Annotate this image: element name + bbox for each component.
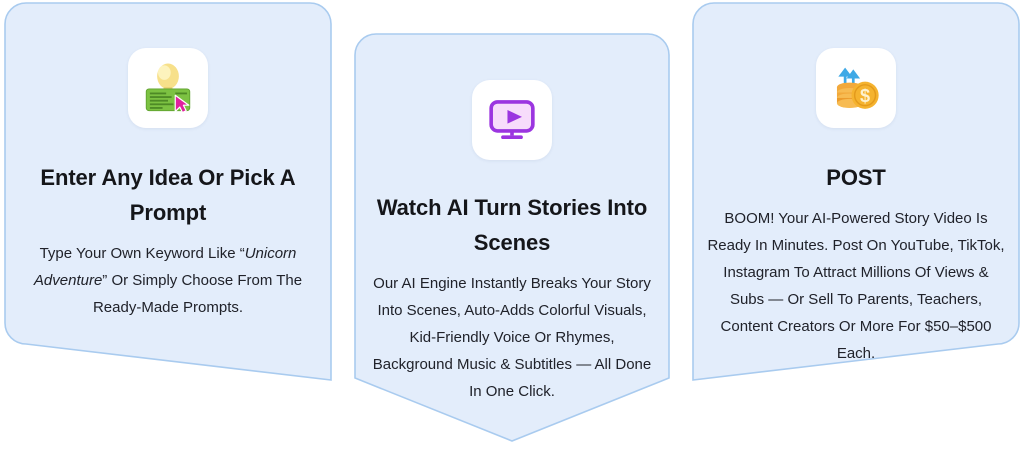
step-2-title: Watch AI Turn Stories Into Scenes — [367, 190, 657, 260]
step-card-3[interactable]: $ POST BOOM! Your AI-Powered Story Video… — [690, 0, 1022, 390]
step-card-2-content: Watch AI Turn Stories Into Scenes Our AI… — [352, 0, 672, 405]
step-1-desc-after: ” Or Simply Choose From The Ready-Made P… — [93, 272, 302, 316]
step-card-2[interactable]: Watch AI Turn Stories Into Scenes Our AI… — [352, 0, 672, 449]
step-3-title: POST — [706, 160, 1006, 195]
step-card-1-content: Enter Any Idea Or Pick A Prompt Type You… — [2, 0, 334, 321]
step-1-icon-tile — [128, 48, 208, 128]
how-it-works-steps-row: Enter Any Idea Or Pick A Prompt Type You… — [0, 0, 1024, 449]
step-2-description: Our AI Engine Instantly Breaks Your Stor… — [370, 270, 654, 405]
lightbulb-idea-list-icon — [139, 59, 197, 117]
step-1-title: Enter Any Idea Or Pick A Prompt — [18, 160, 318, 230]
step-card-1[interactable]: Enter Any Idea Or Pick A Prompt Type You… — [2, 0, 334, 390]
svg-text:$: $ — [860, 86, 870, 106]
step-1-description: Type Your Own Keyword Like “Unicorn Adve… — [22, 240, 314, 321]
step-3-description: BOOM! Your AI-Powered Story Video Is Rea… — [706, 205, 1006, 367]
step-1-desc-before: Type Your Own Keyword Like “ — [40, 245, 245, 262]
step-card-3-content: $ POST BOOM! Your AI-Powered Story Video… — [690, 0, 1022, 367]
step-2-icon-tile — [472, 80, 552, 160]
money-coins-up-arrows-icon: $ — [827, 59, 885, 117]
step-3-icon-tile: $ — [816, 48, 896, 128]
video-play-monitor-icon — [483, 91, 541, 149]
